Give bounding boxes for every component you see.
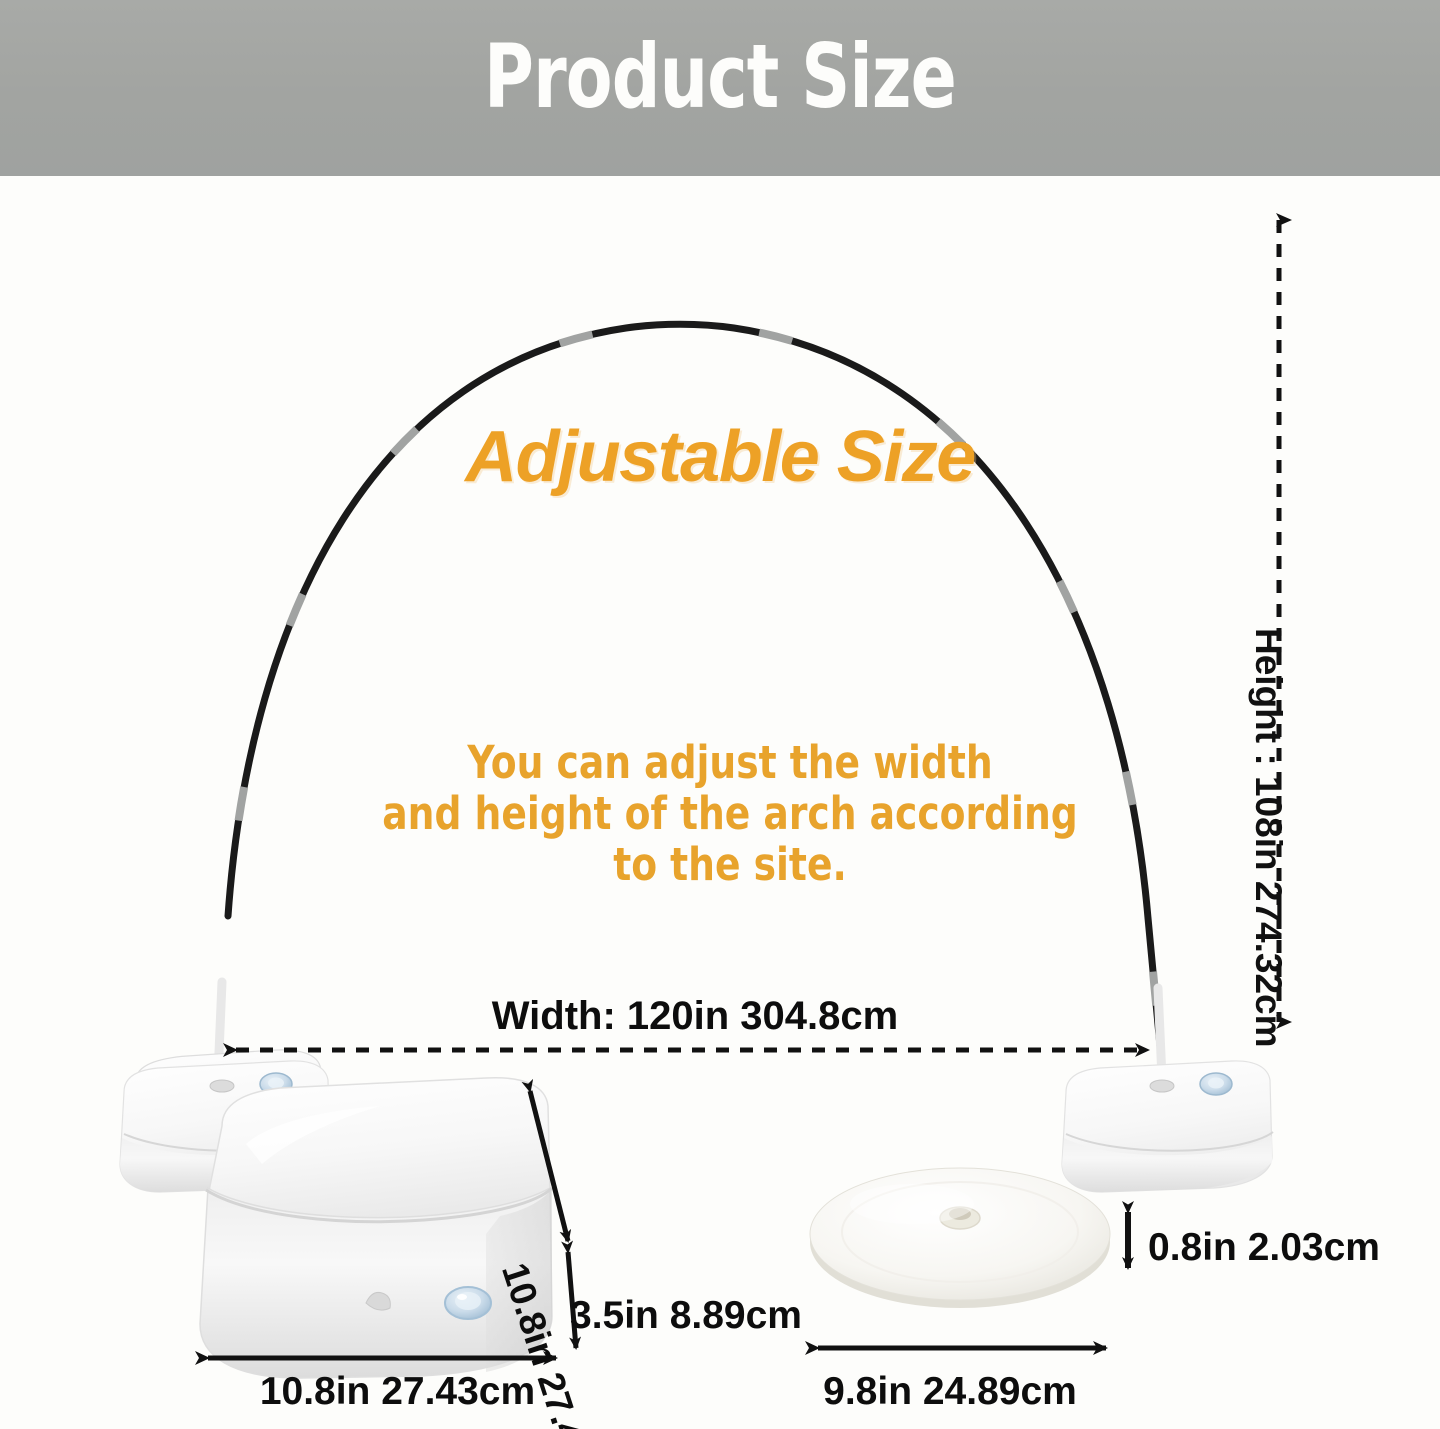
height-dimension-label: Height : 108in 274.32cm (1247, 628, 1289, 1048)
detail-base-disc (810, 1168, 1110, 1308)
disc-width-label: 9.8in 24.89cm (800, 1370, 1100, 1414)
pole-socket-icon (210, 1080, 234, 1092)
adjust-note-paragraph: You can adjust the width and height of t… (330, 738, 1130, 891)
detail-cushion (200, 1078, 552, 1378)
pole-socket-icon (1150, 1080, 1174, 1092)
width-dimension-label: Width: 120in 304.8cm (0, 994, 1390, 1039)
disc-thickness-label: 0.8in 2.03cm (1148, 1226, 1380, 1270)
adjustable-size-headline: Adjustable Size (0, 416, 1440, 498)
right-base-cushion (1062, 1061, 1273, 1192)
product-size-infographic: Product Size (0, 0, 1440, 1429)
page-title: Product Size (101, 28, 1339, 127)
adjust-note-line-2: and height of the arch according (330, 789, 1130, 840)
adjust-note-line-3: to the site. (330, 840, 1130, 891)
adjust-note-line-1: You can adjust the width (330, 738, 1130, 789)
header-band: Product Size (0, 0, 1440, 176)
cushion-height-label: 3.5in 8.89cm (570, 1294, 802, 1338)
cushion-width-label: 10.8in 27.43cm (195, 1370, 600, 1414)
illustration-stage: Adjustable Size You can adjust the width… (0, 176, 1440, 1429)
